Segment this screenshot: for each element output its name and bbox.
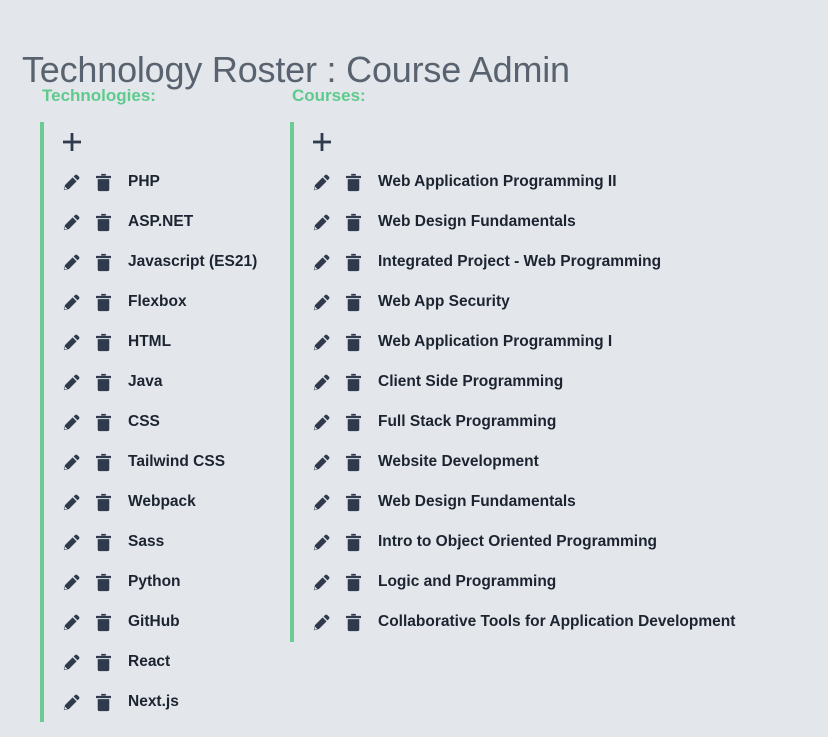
pencil-icon[interactable] <box>60 611 82 633</box>
trash-icon[interactable] <box>342 491 364 513</box>
pencil-icon[interactable] <box>60 531 82 553</box>
trash-icon[interactable] <box>92 571 114 593</box>
pencil-icon[interactable] <box>310 251 332 273</box>
trash-icon[interactable] <box>342 611 364 633</box>
list-item: Logic and Programming <box>310 562 735 602</box>
list-item: Java <box>60 362 257 402</box>
trash-icon[interactable] <box>92 411 114 433</box>
list-item: PHP <box>60 162 257 202</box>
trash-icon[interactable] <box>342 371 364 393</box>
trash-icon[interactable] <box>342 451 364 473</box>
pencil-icon[interactable] <box>310 451 332 473</box>
courses-column-label: Courses: <box>292 86 735 106</box>
courses-list: Web Application Programming II <box>310 162 735 642</box>
list-item-label: Tailwind CSS <box>128 452 225 472</box>
pencil-icon[interactable] <box>310 411 332 433</box>
list-item-label: Web App Security <box>378 292 510 312</box>
pencil-icon[interactable] <box>60 291 82 313</box>
trash-icon[interactable] <box>342 171 364 193</box>
list-item: Python <box>60 562 257 602</box>
trash-icon[interactable] <box>92 251 114 273</box>
pencil-icon[interactable] <box>60 451 82 473</box>
trash-icon[interactable] <box>92 291 114 313</box>
list-item-label: Web Design Fundamentals <box>378 492 576 512</box>
trash-icon[interactable] <box>342 291 364 313</box>
trash-icon[interactable] <box>92 211 114 233</box>
list-item-label: ASP.NET <box>128 212 193 232</box>
pencil-icon[interactable] <box>60 571 82 593</box>
courses-column: Courses: <box>290 86 735 642</box>
trash-icon[interactable] <box>92 531 114 553</box>
list-item-label: Collaborative Tools for Application Deve… <box>378 612 735 632</box>
trash-icon[interactable] <box>92 331 114 353</box>
pencil-icon[interactable] <box>310 491 332 513</box>
trash-icon[interactable] <box>92 171 114 193</box>
list-item: Flexbox <box>60 282 257 322</box>
list-item: Website Development <box>310 442 735 482</box>
list-item-label: Flexbox <box>128 292 187 312</box>
list-item: Web Design Fundamentals <box>310 202 735 242</box>
technologies-column: Technologies: <box>40 86 257 722</box>
pencil-icon[interactable] <box>60 371 82 393</box>
list-item: Web App Security <box>310 282 735 322</box>
technologies-list-body: PHP <box>40 122 257 722</box>
pencil-icon[interactable] <box>60 331 82 353</box>
pencil-icon[interactable] <box>310 531 332 553</box>
list-item: Webpack <box>60 482 257 522</box>
pencil-icon[interactable] <box>310 571 332 593</box>
list-item-label: Web Application Programming II <box>378 172 617 192</box>
trash-icon[interactable] <box>92 691 114 713</box>
pencil-icon[interactable] <box>60 171 82 193</box>
list-item: Full Stack Programming <box>310 402 735 442</box>
plus-icon <box>63 133 81 151</box>
list-item-label: Sass <box>128 532 164 552</box>
technologies-add-row <box>60 122 257 162</box>
list-item: Web Design Fundamentals <box>310 482 735 522</box>
list-item: Sass <box>60 522 257 562</box>
list-item: Tailwind CSS <box>60 442 257 482</box>
pencil-icon[interactable] <box>60 211 82 233</box>
list-item-label: Intro to Object Oriented Programming <box>378 532 657 552</box>
trash-icon[interactable] <box>92 611 114 633</box>
list-item-label: GitHub <box>128 612 180 632</box>
list-item: ASP.NET <box>60 202 257 242</box>
trash-icon[interactable] <box>342 211 364 233</box>
list-item: Collaborative Tools for Application Deve… <box>310 602 735 642</box>
list-item-label: Javascript (ES21) <box>128 252 257 272</box>
list-item-label: HTML <box>128 332 171 352</box>
list-item-label: Webpack <box>128 492 196 512</box>
technologies-column-label: Technologies: <box>42 86 257 106</box>
list-item-label: CSS <box>128 412 160 432</box>
pencil-icon[interactable] <box>310 171 332 193</box>
list-item-label: Integrated Project - Web Programming <box>378 252 661 272</box>
list-item-label: Website Development <box>378 452 539 472</box>
list-item-label: Next.js <box>128 692 179 712</box>
list-item-label: React <box>128 652 170 672</box>
pencil-icon[interactable] <box>310 611 332 633</box>
courses-list-body: Web Application Programming II <box>290 122 735 642</box>
plus-icon <box>313 133 331 151</box>
pencil-icon[interactable] <box>60 491 82 513</box>
pencil-icon[interactable] <box>60 411 82 433</box>
pencil-icon[interactable] <box>60 651 82 673</box>
list-item: CSS <box>60 402 257 442</box>
pencil-icon[interactable] <box>310 331 332 353</box>
trash-icon[interactable] <box>342 251 364 273</box>
list-item: Web Application Programming I <box>310 322 735 362</box>
pencil-icon[interactable] <box>60 251 82 273</box>
pencil-icon[interactable] <box>310 371 332 393</box>
technologies-list: PHP <box>60 162 257 722</box>
trash-icon[interactable] <box>92 451 114 473</box>
list-item: React <box>60 642 257 682</box>
list-item-label: Web Application Programming I <box>378 332 612 352</box>
list-item: GitHub <box>60 602 257 642</box>
list-item: Next.js <box>60 682 257 722</box>
add-technology-button[interactable] <box>60 130 84 154</box>
list-item-label: PHP <box>128 172 160 192</box>
trash-icon[interactable] <box>92 371 114 393</box>
list-item: Web Application Programming II <box>310 162 735 202</box>
list-item-label: Web Design Fundamentals <box>378 212 576 232</box>
list-item: Intro to Object Oriented Programming <box>310 522 735 562</box>
pencil-icon[interactable] <box>60 691 82 713</box>
list-item-label: Logic and Programming <box>378 572 556 592</box>
list-item: Integrated Project - Web Programming <box>310 242 735 282</box>
admin-page: Technology Roster : Course Admin Technol… <box>0 0 828 737</box>
pencil-icon[interactable] <box>310 211 332 233</box>
list-item: Javascript (ES21) <box>60 242 257 282</box>
courses-add-row <box>310 122 735 162</box>
add-course-button[interactable] <box>310 130 334 154</box>
list-item-label: Client Side Programming <box>378 372 563 392</box>
list-item: HTML <box>60 322 257 362</box>
list-item: Client Side Programming <box>310 362 735 402</box>
trash-icon[interactable] <box>342 531 364 553</box>
trash-icon[interactable] <box>342 411 364 433</box>
list-item-label: Python <box>128 572 181 592</box>
trash-icon[interactable] <box>342 331 364 353</box>
list-item-label: Full Stack Programming <box>378 412 556 432</box>
trash-icon[interactable] <box>92 651 114 673</box>
trash-icon[interactable] <box>342 571 364 593</box>
list-item-label: Java <box>128 372 162 392</box>
trash-icon[interactable] <box>92 491 114 513</box>
pencil-icon[interactable] <box>310 291 332 313</box>
